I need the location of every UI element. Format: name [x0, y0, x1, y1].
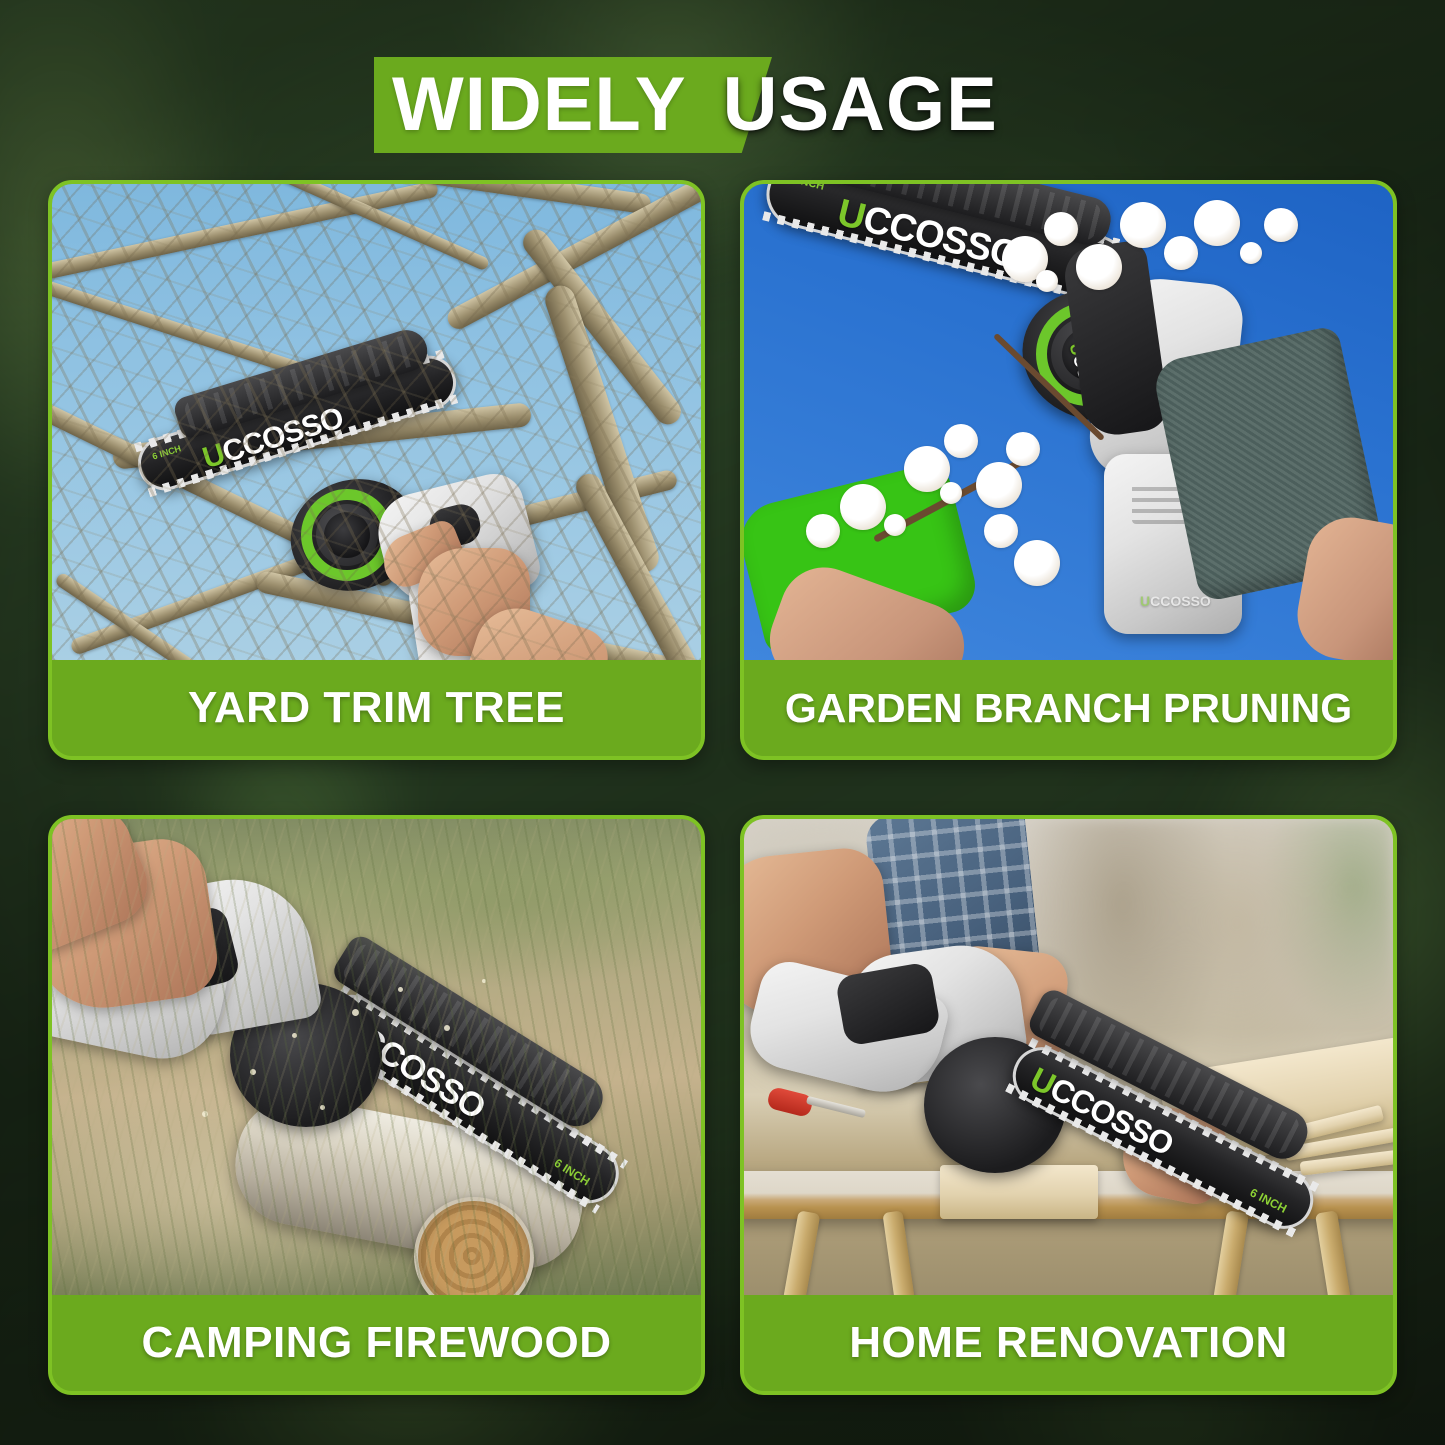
tree-branch	[112, 402, 532, 470]
tree-branch	[352, 184, 652, 215]
tree-branch	[305, 468, 679, 579]
chain-teeth-bottom	[148, 394, 460, 497]
title-highlight-word: WIDELY	[392, 67, 687, 143]
forearm	[441, 598, 616, 660]
brand-wordmark: UCCOSSO	[199, 403, 346, 474]
title-plain-word: USAGE	[723, 67, 998, 143]
chain-teeth-bottom	[312, 1029, 600, 1214]
blossom	[1076, 244, 1122, 290]
log-cut-end	[414, 1197, 534, 1295]
poster-title: WIDELY USAGE	[0, 44, 1445, 160]
photo-yard-trim-tree: 6 INCH UCCOSSO	[52, 184, 701, 660]
blossom	[1240, 242, 1262, 264]
brand-wordmark: UCCOSSO	[333, 1009, 491, 1125]
brand-initial: U	[331, 1007, 371, 1052]
chainsaw-top-guard	[172, 325, 433, 441]
sawdust-particle	[202, 1111, 208, 1117]
tree-branch	[518, 224, 686, 429]
sawdust-particle	[482, 979, 486, 983]
usage-card-grid: 6 INCH UCCOSSO YARD TRIM TREE	[48, 180, 1397, 1395]
chainsaw-guide-bar: 6 INCH UCCOSSO	[131, 349, 462, 497]
chain-teeth-top	[134, 349, 446, 452]
blossom	[1120, 202, 1166, 248]
blossom	[1036, 270, 1058, 292]
caption-home-renovation: HOME RENOVATION	[744, 1295, 1393, 1391]
chainsaw-handle-loop	[52, 918, 231, 1069]
chainsaw-battery-handle	[405, 554, 547, 660]
tree-branch	[444, 184, 701, 333]
workpiece-board	[940, 1165, 1098, 1219]
gripping-hand	[418, 548, 530, 656]
tree-branch	[69, 528, 385, 656]
blossom	[1014, 540, 1060, 586]
blossom	[976, 462, 1022, 508]
body-brand-wordmark: UCCOSSO	[1140, 594, 1211, 608]
brand-initial: U	[1140, 593, 1150, 609]
widely-usage-poster: WIDELY USAGE	[0, 0, 1445, 1445]
chainsaw-guide-bar: UCCOSSO 6 INCH	[310, 983, 630, 1214]
chainsaw-trigger-grip	[128, 904, 241, 1001]
tree-branch	[52, 397, 396, 589]
brand-rest: CCOSSO	[1150, 593, 1211, 609]
tree-branch	[184, 184, 491, 272]
chain-tension-ring	[301, 489, 393, 581]
caption-camping-firewood: CAMPING FIREWOOD	[52, 1295, 701, 1391]
sawdust-particle	[444, 1025, 450, 1031]
blossom	[1164, 236, 1198, 270]
brand-rest: CCOSSO	[219, 401, 347, 469]
blossom	[1006, 432, 1040, 466]
bar-length-label: 6 INCH	[552, 1157, 592, 1188]
usage-card-camping-firewood[interactable]: UCCOSSO 6 INCH CAMPIN	[48, 815, 705, 1395]
blossom	[940, 482, 962, 504]
photo-garden-branch-pruning: 6 INCH UCCOSSO UCCOSSO UCCOSSO	[744, 184, 1393, 660]
chainsaw-motor-housing	[230, 983, 382, 1127]
sawdust-particle	[320, 1105, 325, 1110]
blossom	[944, 424, 978, 458]
sawdust-particle	[352, 1009, 359, 1016]
tree-branch	[52, 279, 385, 404]
blossom	[1194, 200, 1240, 246]
tree-branch	[541, 282, 662, 577]
chainsaw-vents	[457, 659, 510, 660]
brand-rest: CCOSSO	[351, 1020, 491, 1127]
bar-length-label: 6 INCH	[151, 444, 182, 461]
chainsaw-top-guard	[329, 931, 611, 1134]
forearm	[52, 819, 159, 963]
tree-branch	[52, 184, 439, 283]
chainsaw-body	[370, 468, 544, 619]
usage-card-home-renovation[interactable]: UCCOSSO 6 INCH HOME RENOVATION	[740, 815, 1397, 1395]
title-text-row: WIDELY USAGE	[374, 57, 998, 153]
birch-log	[225, 1087, 593, 1279]
bar-length-label: 6 INCH	[788, 184, 826, 193]
tree-branch	[54, 571, 311, 660]
brand-initial: U	[199, 438, 228, 476]
caption-yard-trim-tree: YARD TRIM TREE	[52, 660, 701, 756]
tree-branch	[572, 469, 701, 660]
blossom	[840, 484, 886, 530]
usage-card-yard-trim-tree[interactable]: 6 INCH UCCOSSO YARD TRIM TREE	[48, 180, 705, 760]
photo-home-renovation: UCCOSSO 6 INCH	[744, 819, 1393, 1295]
blossom	[1044, 212, 1078, 246]
photo-camping-firewood: UCCOSSO 6 INCH	[52, 819, 701, 1295]
usage-card-garden-branch-pruning[interactable]: 6 INCH UCCOSSO UCCOSSO UCCOSSO	[740, 180, 1397, 760]
blossom	[984, 514, 1018, 548]
blossom	[806, 514, 840, 548]
gripping-hand	[52, 833, 222, 1016]
chain-teeth-top	[340, 984, 628, 1169]
blossom	[1264, 208, 1298, 242]
chainsaw-motor-housing	[277, 464, 432, 607]
chain-tension-hub	[324, 512, 370, 558]
chainsaw-trigger-grip	[426, 501, 484, 552]
tree-branch	[254, 570, 679, 660]
sawdust-particle	[292, 1033, 297, 1038]
thumb	[376, 517, 469, 593]
sawdust-particle	[250, 1069, 256, 1075]
sawdust-particle	[398, 987, 403, 992]
chainsaw-body	[150, 867, 324, 1041]
caption-garden-branch-pruning: GARDEN BRANCH PRUNING	[744, 660, 1393, 756]
blossom	[884, 514, 906, 536]
